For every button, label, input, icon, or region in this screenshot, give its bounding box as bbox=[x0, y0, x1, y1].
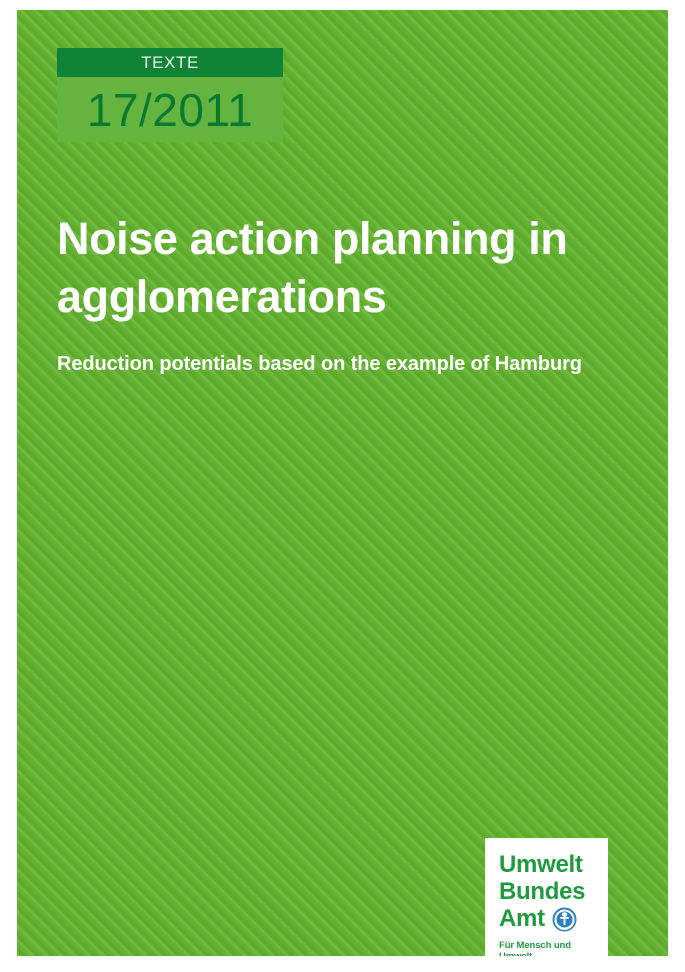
publisher-name-line-3: Amt bbox=[499, 906, 545, 933]
series-banner: TEXTE bbox=[57, 48, 283, 77]
page-subtitle: Reduction potentials based on the exampl… bbox=[57, 351, 642, 377]
publisher-tagline: Für Mensch und Umwelt bbox=[499, 940, 596, 956]
issue-number: 17/2011 bbox=[87, 87, 253, 133]
series-label: TEXTE bbox=[141, 54, 199, 71]
publisher-name-line-2: Bundes bbox=[499, 879, 596, 906]
publisher-name-line-1: Umwelt bbox=[499, 852, 596, 879]
title-block: Noise action planning in agglomerations … bbox=[57, 210, 642, 377]
publisher-name-line-3-row: Amt bbox=[499, 906, 596, 933]
document-cover-page: TEXTE 17/2011 Noise action planning in a… bbox=[0, 0, 685, 972]
issue-number-box: 17/2011 bbox=[57, 77, 283, 142]
page-title: Noise action planning in agglomerations bbox=[57, 210, 642, 325]
publisher-logo: Umwelt Bundes Amt Für Mensch und Umwel bbox=[485, 838, 608, 956]
uba-globe-emblem-icon bbox=[552, 907, 577, 932]
cover-green-panel: TEXTE 17/2011 Noise action planning in a… bbox=[17, 10, 668, 956]
